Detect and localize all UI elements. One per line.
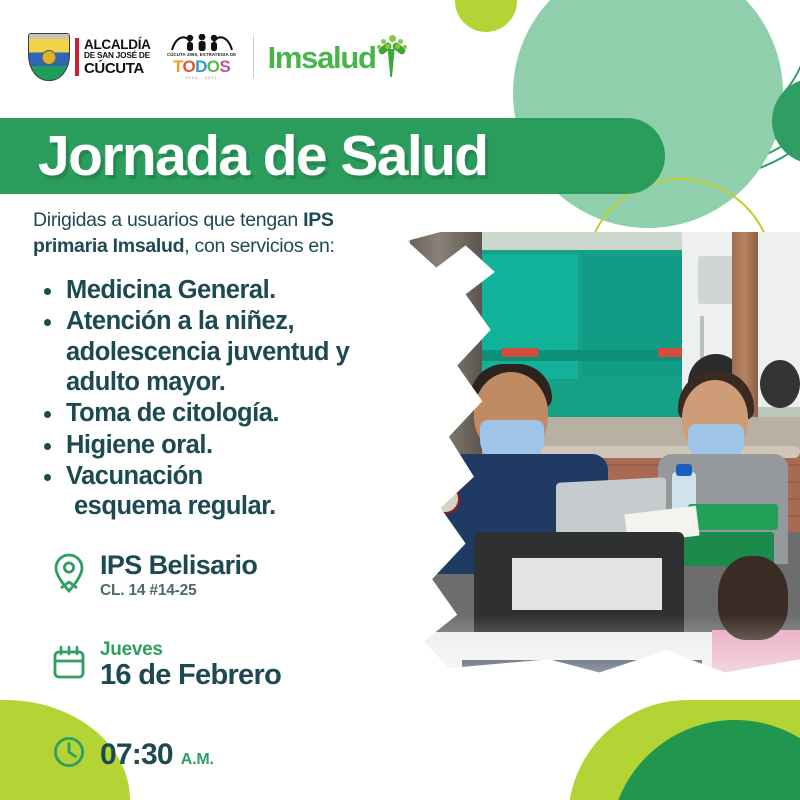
service-line: esquema regular. (66, 491, 396, 521)
todos-letter-5: S (219, 57, 230, 76)
todos-letter-3: D (195, 57, 207, 76)
logo-todos: CÚCUTA 2050, ESTRATEGIA DE TODOS 2024 - … (165, 34, 239, 81)
service-line: adulto mayor. (66, 367, 396, 397)
services-list: Medicina General. Atención a la niñez, a… (36, 275, 396, 523)
logo-imsalud: Imsalud (268, 35, 407, 79)
alcaldia-line-3: CÚCUTA (84, 61, 144, 76)
service-line: Vacunación (66, 461, 396, 491)
detail-place: IPS Belisario CL. 14 #14-25 (52, 552, 257, 599)
place-address: CL. 14 #14-25 (100, 583, 257, 599)
title-banner: Jornada de Salud (0, 118, 665, 194)
imsalud-wordmark: Imsalud (268, 42, 376, 73)
alcaldia-wordmark: ALCALDÍA DE SAN JOSÉ DE CÚCUTA (75, 38, 151, 77)
service-line: Toma de citología. (66, 398, 396, 428)
date-text: Jueves 16 de Febrero (100, 640, 281, 691)
event-photo (382, 232, 800, 677)
logo-row: ALCALDÍA DE SAN JOSÉ DE CÚCUTA CÚCUTA 20 (28, 33, 407, 81)
date-weekday: Jueves (100, 640, 281, 659)
list-item: Medicina General. (36, 275, 396, 305)
decor-green-circle-bottom (610, 720, 800, 800)
detail-date: Jueves 16 de Febrero (52, 640, 281, 691)
place-text: IPS Belisario CL. 14 #14-25 (100, 552, 257, 598)
decor-lime-circle-top (455, 0, 517, 32)
time-value: 07:30 (100, 738, 173, 772)
decor-green-circle-right-top (772, 78, 800, 164)
list-item: Atención a la niñez, adolescencia juvent… (36, 306, 396, 397)
subtitle-pre: Dirigidas a usuarios que tengan (33, 209, 303, 231)
date-full: 16 de Febrero (100, 661, 281, 691)
decor-ring-6 (606, 0, 800, 128)
service-line: Atención a la niñez, (66, 306, 396, 336)
list-item: Higiene oral. (36, 430, 396, 460)
logo-divider (253, 36, 254, 78)
todos-footer: 2024 - 2027 (185, 77, 217, 81)
calendar-icon (52, 645, 86, 686)
coat-of-arms-shield-icon (28, 33, 70, 81)
service-line: adolescencia juventud y (66, 337, 396, 367)
decor-lime-shape-bottom-right (568, 700, 800, 800)
location-pin-icon (52, 552, 86, 599)
service-line: Medicina General. (66, 275, 396, 305)
page-title: Jornada de Salud (38, 123, 488, 189)
subtitle: Dirigidas a usuarios que tengan IPS prim… (33, 208, 393, 260)
clock-icon (52, 735, 86, 774)
alcaldia-line-1: ALCALDÍA (84, 38, 151, 52)
logo-alcaldia: ALCALDÍA DE SAN JOSÉ DE CÚCUTA (28, 33, 151, 81)
todos-letter-4: O (207, 57, 220, 76)
time-period: A.M. (181, 751, 214, 769)
subtitle-post: , con servicios en: (184, 235, 334, 257)
poster-canvas: ALCALDÍA DE SAN JOSÉ DE CÚCUTA CÚCUTA 20 (0, 0, 800, 800)
time-text: 07:30 A.M. (100, 738, 214, 772)
list-item: Vacunación esquema regular. (36, 461, 396, 522)
person-tree-icon (377, 35, 407, 79)
detail-time: 07:30 A.M. (52, 735, 214, 774)
place-name: IPS Belisario (100, 552, 257, 580)
list-item: Toma de citología. (36, 398, 396, 428)
people-arch-icon (170, 34, 234, 51)
todos-wordmark: TODOS (173, 58, 230, 75)
todos-letter-2: O (182, 57, 195, 76)
service-line: Higiene oral. (66, 430, 396, 460)
